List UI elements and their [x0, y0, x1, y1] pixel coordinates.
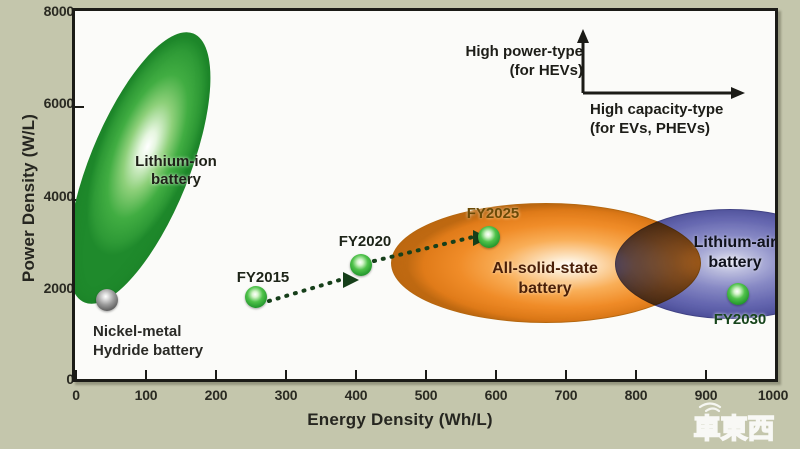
arrow-up-head — [577, 29, 589, 43]
chart-figure: 8000 6000 4000 2000 0 0 100 200 300 400 … — [0, 0, 800, 449]
marker-label-fy2015: FY2015 — [237, 269, 290, 286]
ytick-label-6000: 6000 — [44, 95, 74, 111]
xtick-mark-0 — [75, 370, 77, 379]
ytick-mark-6000 — [75, 106, 84, 108]
annotation-high-capacity-type: High capacity-type (for EVs, PHEVs) — [590, 101, 778, 139]
xtick-mark-1000 — [775, 370, 777, 379]
xtick-label-600: 600 — [485, 387, 508, 403]
wifi-arc-outer — [700, 404, 720, 408]
marker-fy2025[interactable] — [478, 226, 500, 248]
marker-label-fy2020: FY2020 — [339, 233, 392, 250]
xtick-label-900: 900 — [695, 387, 718, 403]
x-axis-title: Energy Density (Wh/L) — [0, 410, 800, 430]
xtick-label-0: 0 — [72, 387, 80, 403]
region-lithium-ion-battery — [72, 15, 240, 321]
xtick-mark-300 — [285, 370, 287, 379]
ytick-label-4000: 4000 — [44, 188, 74, 204]
xtick-mark-100 — [145, 370, 147, 379]
xtick-label-700: 700 — [555, 387, 578, 403]
plot-area: Lithium-ion battery All-solid-state batt… — [72, 8, 778, 382]
xtick-mark-600 — [495, 370, 497, 379]
xtick-label-100: 100 — [135, 387, 158, 403]
ytick-label-8000: 8000 — [44, 3, 74, 19]
y-axis-title: Power Density (W/L) — [19, 68, 39, 328]
xtick-mark-700 — [565, 370, 567, 379]
marker-nickel-metal-hydride[interactable] — [96, 289, 118, 311]
xtick-mark-400 — [355, 370, 357, 379]
marker-fy2015[interactable] — [245, 286, 267, 308]
marker-fy2030[interactable] — [727, 283, 749, 305]
xtick-label-500: 500 — [415, 387, 438, 403]
arrow-right-head — [731, 87, 745, 99]
marker-label-nickel-metal-hydride: Nickel-metal Hydride battery — [93, 323, 203, 361]
xtick-label-400: 400 — [345, 387, 368, 403]
xtick-label-200: 200 — [205, 387, 228, 403]
arrow-fy2015-to-fy2020-line — [269, 279, 343, 301]
ytick-label-2000: 2000 — [44, 280, 74, 296]
xtick-mark-500 — [425, 370, 427, 379]
annotation-high-power-type: High power-type (for HEVs) — [403, 43, 583, 81]
xtick-label-300: 300 — [275, 387, 298, 403]
xtick-mark-800 — [635, 370, 637, 379]
xtick-mark-200 — [215, 370, 217, 379]
xtick-label-800: 800 — [625, 387, 648, 403]
marker-fy2020[interactable] — [350, 254, 372, 276]
xtick-label-1000: 1000 — [758, 387, 788, 403]
quadrant-annotation: High power-type (for HEVs) High capacity… — [515, 25, 765, 137]
xtick-mark-900 — [705, 370, 707, 379]
